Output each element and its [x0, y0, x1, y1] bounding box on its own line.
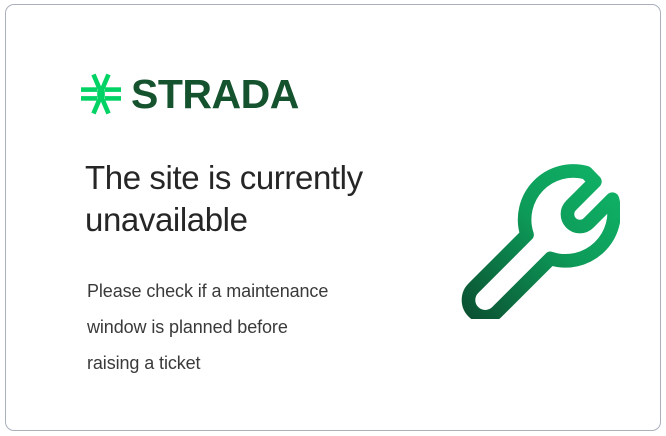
description-line: window is planned before	[87, 309, 397, 345]
brand-lockup: STRADA	[79, 72, 299, 116]
strada-asterisk-icon	[79, 72, 123, 116]
description-line: raising a ticket	[87, 345, 397, 381]
description-line: Please check if a maintenance	[87, 273, 397, 309]
brand-name: STRADA	[131, 74, 299, 115]
status-card: STRADA The site is currently unavailable…	[5, 4, 661, 431]
page-description: Please check if a maintenance window is …	[87, 273, 397, 381]
error-page: STRADA The site is currently unavailable…	[0, 0, 666, 436]
page-title: The site is currently unavailable	[85, 157, 415, 241]
wrench-icon	[458, 157, 620, 319]
